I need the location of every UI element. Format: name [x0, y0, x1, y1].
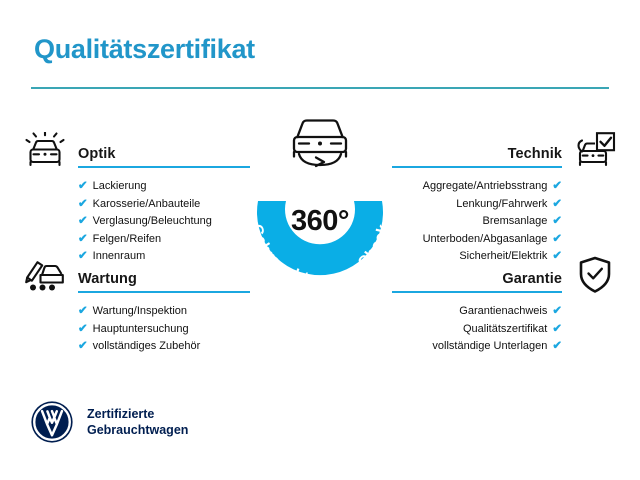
list-item: Garantienachweis✔ — [398, 303, 562, 321]
list-item-label: Qualitätszertifikat — [463, 323, 547, 335]
check-icon: ✔ — [78, 198, 88, 210]
check-icon: ✔ — [78, 340, 88, 352]
list-item-label: Lackierung — [93, 180, 147, 192]
check-icon: ✔ — [552, 180, 562, 192]
list-item: Aggregate/Antriebsstrang✔ — [398, 178, 562, 196]
check-icon: ✔ — [78, 323, 88, 335]
list-item: Qualitätszertifikat✔ — [398, 321, 562, 339]
list-item: Unterboden/Abgasanlage✔ — [398, 231, 562, 249]
section-heading: Wartung — [78, 271, 137, 287]
list-item-label: Aggregate/Antriebsstrang — [423, 180, 548, 192]
footer-brand: Zertifizierte Gebrauchtwagen — [30, 400, 188, 444]
section-heading: Optik — [78, 146, 116, 162]
service-book-car-icon — [22, 255, 68, 295]
footer-line-1: Zertifizierte — [87, 406, 188, 422]
list-item-label: Lenkung/Fahrwerk — [456, 198, 547, 210]
check-icon: ✔ — [552, 305, 562, 317]
car-checkbox-icon — [572, 130, 618, 170]
360-check-badge: Gebrauchtwagen-Check 360° — [228, 123, 412, 307]
check-icon: ✔ — [78, 215, 88, 227]
section-heading: Garantie — [502, 271, 562, 287]
section-heading: Technik — [508, 146, 562, 162]
section-underline — [78, 166, 250, 168]
section-underline — [392, 166, 562, 168]
check-icon: ✔ — [552, 198, 562, 210]
certificate-page: Qualitätszertifikat — [0, 0, 640, 480]
badge-center-label: 360° — [228, 205, 412, 238]
list-item-label: Hauptuntersuchung — [93, 323, 189, 335]
check-icon: ✔ — [552, 233, 562, 245]
shield-check-icon — [572, 255, 618, 295]
check-icon: ✔ — [78, 180, 88, 192]
section-underline — [392, 291, 562, 293]
check-icon: ✔ — [552, 215, 562, 227]
check-icon: ✔ — [78, 233, 88, 245]
list-item: vollständige Unterlagen✔ — [398, 338, 562, 356]
list-item: Lenkung/Fahrwerk✔ — [398, 196, 562, 214]
section-underline — [78, 291, 250, 293]
list-item: Bremsanlage✔ — [398, 213, 562, 231]
list-item-label: Bremsanlage — [483, 215, 548, 227]
title-divider — [31, 87, 609, 89]
list-item: ✔vollständiges Zubehör — [78, 338, 282, 356]
volkswagen-logo — [30, 400, 74, 444]
list-item-label: vollständiges Zubehör — [93, 340, 201, 352]
list-item-label: Felgen/Reifen — [93, 233, 162, 245]
check-icon: ✔ — [552, 323, 562, 335]
list-item-label: Garantienachweis — [459, 305, 547, 317]
list-item-label: Unterboden/Abgasanlage — [423, 233, 548, 245]
footer-line-2: Gebrauchtwagen — [87, 422, 188, 438]
list-item-label: vollständige Unterlagen — [432, 340, 547, 352]
list-item-label: Wartung/Inspektion — [93, 305, 187, 317]
car-rotate-icon — [280, 111, 360, 173]
car-shine-icon — [22, 130, 68, 170]
list-item-label: Verglasung/Beleuchtung — [93, 215, 212, 227]
page-title: Qualitätszertifikat — [34, 34, 255, 65]
check-icon: ✔ — [552, 340, 562, 352]
list-item: ✔Hauptuntersuchung — [78, 321, 282, 339]
check-icon: ✔ — [78, 305, 88, 317]
list-item-label: Karosserie/Anbauteile — [93, 198, 201, 210]
footer-text: Zertifizierte Gebrauchtwagen — [87, 406, 188, 438]
